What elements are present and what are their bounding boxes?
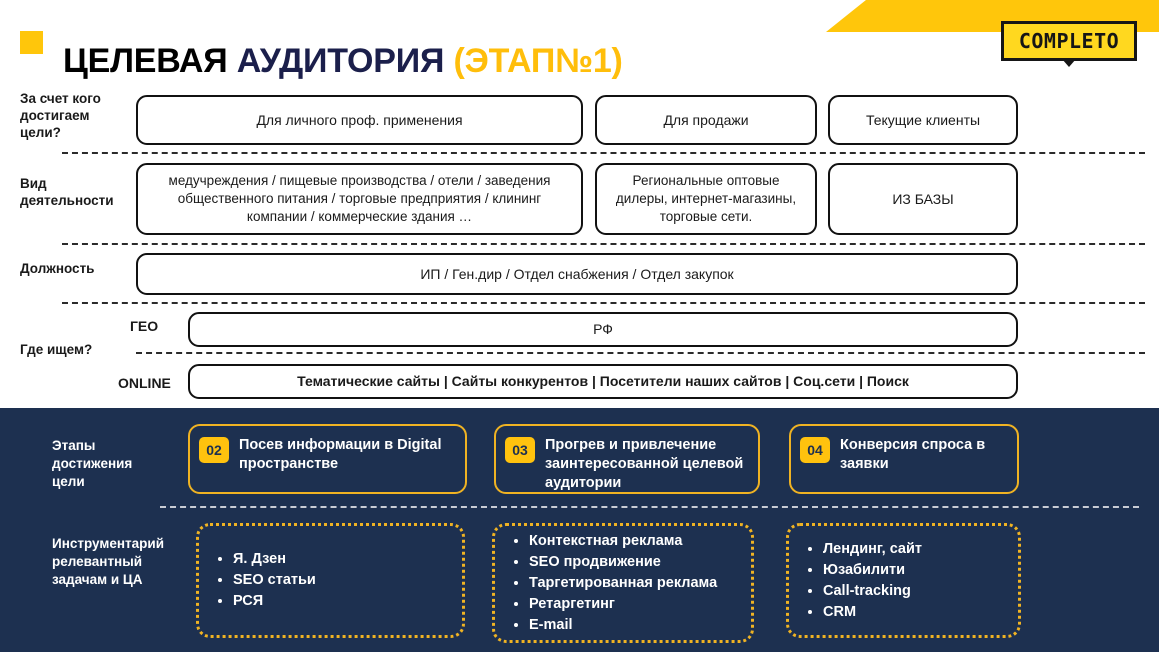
tool-list-3: Лендинг, сайтЮзабилитиCall-trackingCRM bbox=[789, 539, 922, 623]
list-item: Таргетированная реклама bbox=[529, 573, 717, 594]
completo-logo: COMPLETO bbox=[1001, 21, 1137, 61]
list-item: Ретаргетинг bbox=[529, 594, 717, 615]
row-label-where: Где ищем? bbox=[20, 341, 135, 358]
box-for-sale: Для продажи bbox=[595, 95, 817, 145]
list-item: Юзабилити bbox=[823, 560, 922, 581]
list-item: РСЯ bbox=[233, 591, 316, 612]
list-item: SEO продвижение bbox=[529, 552, 717, 573]
stages-label: Этапы достижения цели bbox=[52, 437, 172, 491]
list-item: CRM bbox=[823, 602, 922, 623]
separator-stages-tools bbox=[160, 506, 1139, 508]
page-title-part-3: (ЭТАП№1) bbox=[453, 42, 622, 80]
page-title-part-2: АУДИТОРИЯ bbox=[237, 42, 454, 80]
slide-root: ЦЕЛЕВАЯ АУДИТОРИЯ (ЭТАП№1) COMPLETO За с… bbox=[0, 0, 1159, 652]
row-label-activity: Вид деятельности bbox=[20, 175, 135, 209]
list-item: SEO статьи bbox=[233, 570, 316, 591]
list-item: Лендинг, сайт bbox=[823, 539, 922, 560]
separator-row-1 bbox=[62, 152, 1145, 154]
tool-card-3[interactable]: Лендинг, сайтЮзабилитиCall-trackingCRM bbox=[786, 523, 1021, 638]
stage-badge-03: 03 bbox=[505, 437, 535, 463]
stage-card-02[interactable]: 02 Посев информации в Digital пространст… bbox=[188, 424, 467, 494]
sub-label-geo: ГЕО bbox=[130, 318, 158, 334]
row-label-position: Должность bbox=[20, 260, 135, 277]
completo-logo-text: COMPLETO bbox=[1019, 29, 1119, 53]
stage-text-02: Посев информации в Digital пространстве bbox=[239, 436, 455, 474]
box-geo-value: РФ bbox=[188, 312, 1018, 347]
stage-badge-04: 04 bbox=[800, 437, 830, 463]
box-positions: ИП / Ген.дир / Отдел снабжения / Отдел з… bbox=[136, 253, 1018, 295]
stage-text-04: Конверсия спроса в заявки bbox=[840, 436, 1007, 474]
tools-label: Инструментарий релевантный задачам и ЦА bbox=[52, 535, 197, 589]
stage-card-03[interactable]: 03 Прогрев и привлечение заинтересованно… bbox=[494, 424, 760, 494]
list-item: Я. Дзен bbox=[233, 549, 316, 570]
tool-list-2: Контекстная рекламаSEO продвижениеТаргет… bbox=[495, 531, 717, 636]
tool-card-2[interactable]: Контекстная рекламаSEO продвижениеТаргет… bbox=[492, 523, 754, 643]
title-bullet-square bbox=[20, 31, 43, 54]
list-item: Call-tracking bbox=[823, 581, 922, 602]
list-item: Контекстная реклама bbox=[529, 531, 717, 552]
sub-label-online: ONLINE bbox=[118, 375, 171, 391]
stage-text-03: Прогрев и привлечение заинтересованной ц… bbox=[545, 436, 748, 493]
box-current-clients: Текущие клиенты bbox=[828, 95, 1018, 145]
box-online-value: Тематические сайты | Сайты конкурентов |… bbox=[188, 364, 1018, 399]
row-label-audience: За счет кого достигаем цели? bbox=[20, 90, 130, 141]
completo-logo-pointer bbox=[1062, 59, 1076, 67]
box-activity-types: медучреждения / пищевые производства / о… bbox=[136, 163, 583, 235]
page-title: ЦЕЛЕВАЯ АУДИТОРИЯ (ЭТАП№1) bbox=[63, 39, 623, 83]
box-personal-use: Для личного проф. применения bbox=[136, 95, 583, 145]
stage-card-04[interactable]: 04 Конверсия спроса в заявки bbox=[789, 424, 1019, 494]
separator-row-3 bbox=[62, 302, 1145, 304]
list-item: E-mail bbox=[529, 615, 717, 636]
separator-row-2 bbox=[62, 243, 1145, 245]
box-from-base: ИЗ БАЗЫ bbox=[828, 163, 1018, 235]
page-title-part-1: ЦЕЛЕВАЯ bbox=[63, 42, 237, 80]
box-regional-dealers: Региональные оптовые дилеры, интернет-ма… bbox=[595, 163, 817, 235]
separator-geo-online bbox=[136, 352, 1145, 354]
tool-card-1[interactable]: Я. ДзенSEO статьиРСЯ bbox=[196, 523, 465, 638]
tool-list-1: Я. ДзенSEO статьиРСЯ bbox=[199, 549, 316, 612]
stage-badge-02: 02 bbox=[199, 437, 229, 463]
